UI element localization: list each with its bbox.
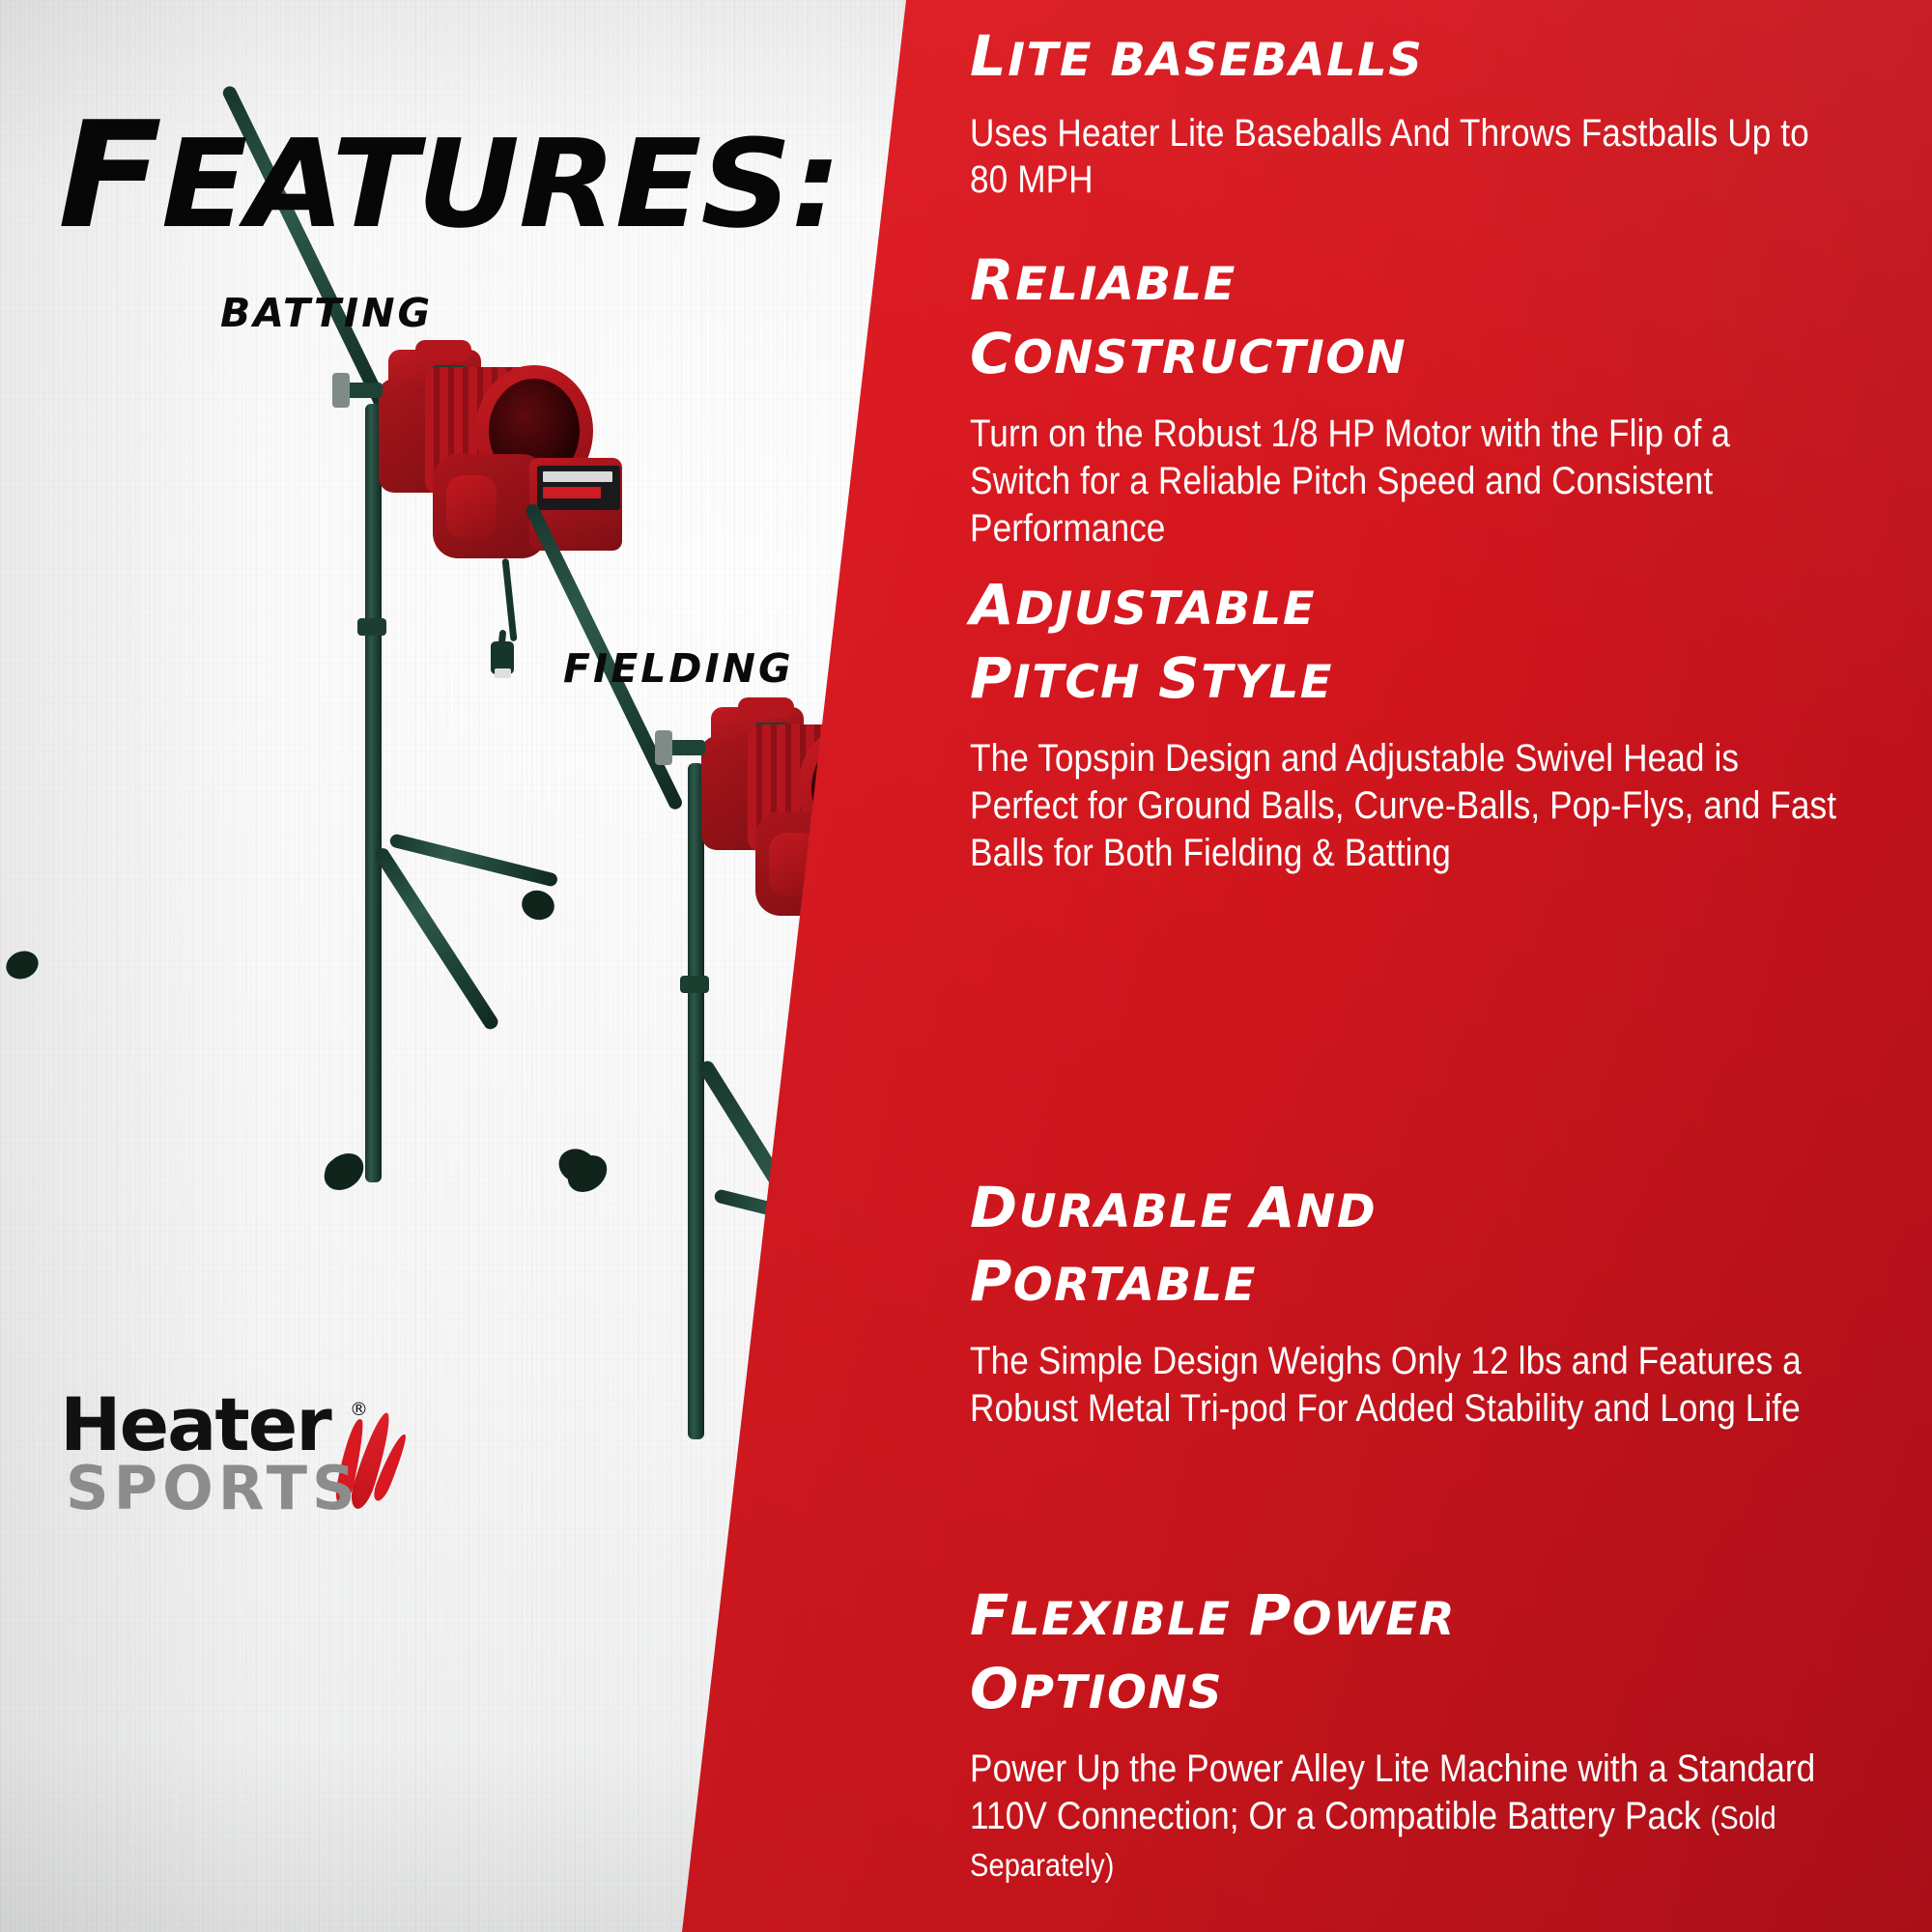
feature-title-rest3: ORTABLE [1013, 1259, 1257, 1312]
feature-title-cap3: S [1158, 645, 1201, 711]
feature-title-cap2: P [1249, 1582, 1293, 1648]
feature-body-main: Power Up the Power Alley Lite Machine wi… [970, 1747, 1815, 1837]
feature-reliable-construction: RELIABLE CONSTRUCTION Turn on the Robust… [970, 249, 1820, 552]
feature-title-rest: ITE BASEBALLS [1008, 34, 1423, 87]
feature-title-rest2: ND [1296, 1185, 1377, 1238]
feature-title-cap: F [970, 1582, 1010, 1648]
feature-title-cap2: A [1251, 1175, 1296, 1240]
feature-title-line2: PORTABLE [970, 1250, 1837, 1314]
page-title-cap: F [58, 90, 161, 261]
feature-title-cap3: P [970, 1248, 1013, 1314]
label-batting: BATTING [220, 290, 433, 336]
logo-sub-text: SPORTS [66, 1453, 360, 1523]
feature-flexible-power-options: FLEXIBLE POWER OPTIONS Power Up the Powe… [970, 1584, 1820, 1887]
feature-title-line2: PITCH STYLE [970, 647, 1837, 711]
page-title: FEATURES: [58, 102, 840, 249]
feature-title-cap: A [970, 572, 1015, 638]
feature-durable-and-portable: DURABLE AND PORTABLE The Simple Design W… [970, 1177, 1820, 1433]
feature-body: Turn on the Robust 1/8 HP Motor with the… [970, 411, 1829, 552]
feature-title-cap: D [970, 1175, 1019, 1240]
feature-title: LITE BASEBALLS [970, 25, 1837, 89]
infographic-canvas: FEATURES: BATTING FIELDING Heater ® SPOR… [0, 0, 1932, 1932]
feature-title-rest: URABLE [1019, 1185, 1251, 1238]
feature-title-rest2: OWER [1293, 1593, 1456, 1646]
feature-title-rest2: ONSTRUCTION [1013, 331, 1406, 384]
feature-title-cap: R [970, 247, 1015, 313]
registered-trademark-icon: ® [350, 1399, 368, 1420]
feature-title-line1: RELIABLE [970, 249, 1837, 313]
feature-title-rest3: TYLE [1201, 656, 1333, 709]
heater-sports-logo: Heater ® SPORTS [60, 1381, 466, 1526]
feature-title-rest: ELIABLE [1015, 258, 1236, 311]
feature-lite-baseballs: LITE BASEBALLS Uses Heater Lite Baseball… [970, 25, 1820, 204]
feature-title-rest: LEXIBLE [1010, 1593, 1249, 1646]
feature-title-line1: ADJUSTABLE [970, 574, 1837, 638]
feature-title-rest: DJUSTABLE [1015, 582, 1316, 636]
feature-title-line2: CONSTRUCTION [970, 323, 1837, 386]
feature-body: Uses Heater Lite Baseballs And Throws Fa… [970, 110, 1820, 205]
label-fielding: FIELDING [563, 645, 794, 692]
page-title-rest: EATURES: [161, 113, 840, 255]
feature-title-line2: OPTIONS [970, 1658, 1837, 1721]
feature-title-rest2: ITCH [1013, 656, 1158, 709]
feature-title-rest3: PTIONS [1020, 1666, 1223, 1719]
feature-body: The Simple Design Weighs Only 12 lbs and… [970, 1338, 1829, 1433]
feature-title-cap2: C [970, 321, 1013, 386]
feature-title-cap2: P [970, 645, 1013, 711]
feature-adjustable-pitch-style: ADJUSTABLE PITCH STYLE The Topspin Desig… [970, 574, 1820, 876]
feature-body: Power Up the Power Alley Lite Machine wi… [970, 1746, 1871, 1887]
feature-title-line1: DURABLE AND [970, 1177, 1837, 1240]
feature-title-cap3: O [970, 1656, 1020, 1721]
feature-title-line1: FLEXIBLE POWER [970, 1584, 1837, 1648]
feature-title-cap: L [970, 23, 1008, 89]
feature-body: The Topspin Design and Adjustable Swivel… [970, 735, 1845, 876]
